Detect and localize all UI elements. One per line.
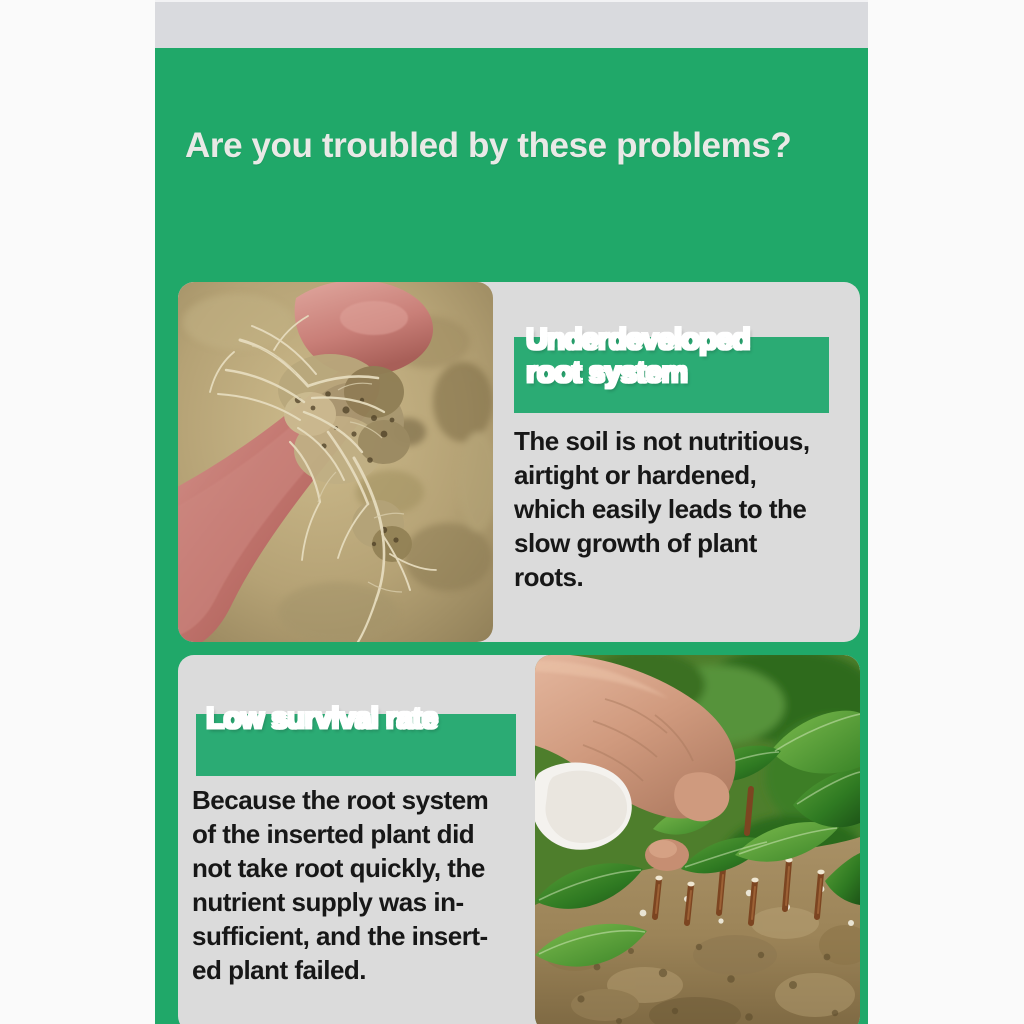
card-2-text-area: Low survival rate Because the root syste… [178,655,535,1024]
card-1-body-text: The soil is not nutritious, airtight or … [514,424,859,594]
card-2-body-text: Because the root system of the inserted … [192,783,532,987]
page-title: Are you troubled by these problems? [185,126,845,166]
card-2-title-banner: Low survival rate [196,714,516,776]
planting-photo [535,655,860,1024]
card-1-title: Underdeveloped root system [526,323,856,389]
green-poster-panel: Are you troubled by these problems? [155,48,868,1024]
card-1-title-banner: Underdeveloped root system [514,337,829,413]
root-photo [178,282,493,642]
poster-canvas: Are you troubled by these problems? [0,0,1024,1024]
top-edge-strip [155,0,868,49]
problem-card-root-system: Underdeveloped root system The soil is n… [178,282,860,642]
card-1-text-area: Underdeveloped root system The soil is n… [493,282,860,642]
card-2-title: Low survival rate [206,702,536,735]
problem-card-survival-rate: Low survival rate Because the root syste… [178,655,860,1024]
